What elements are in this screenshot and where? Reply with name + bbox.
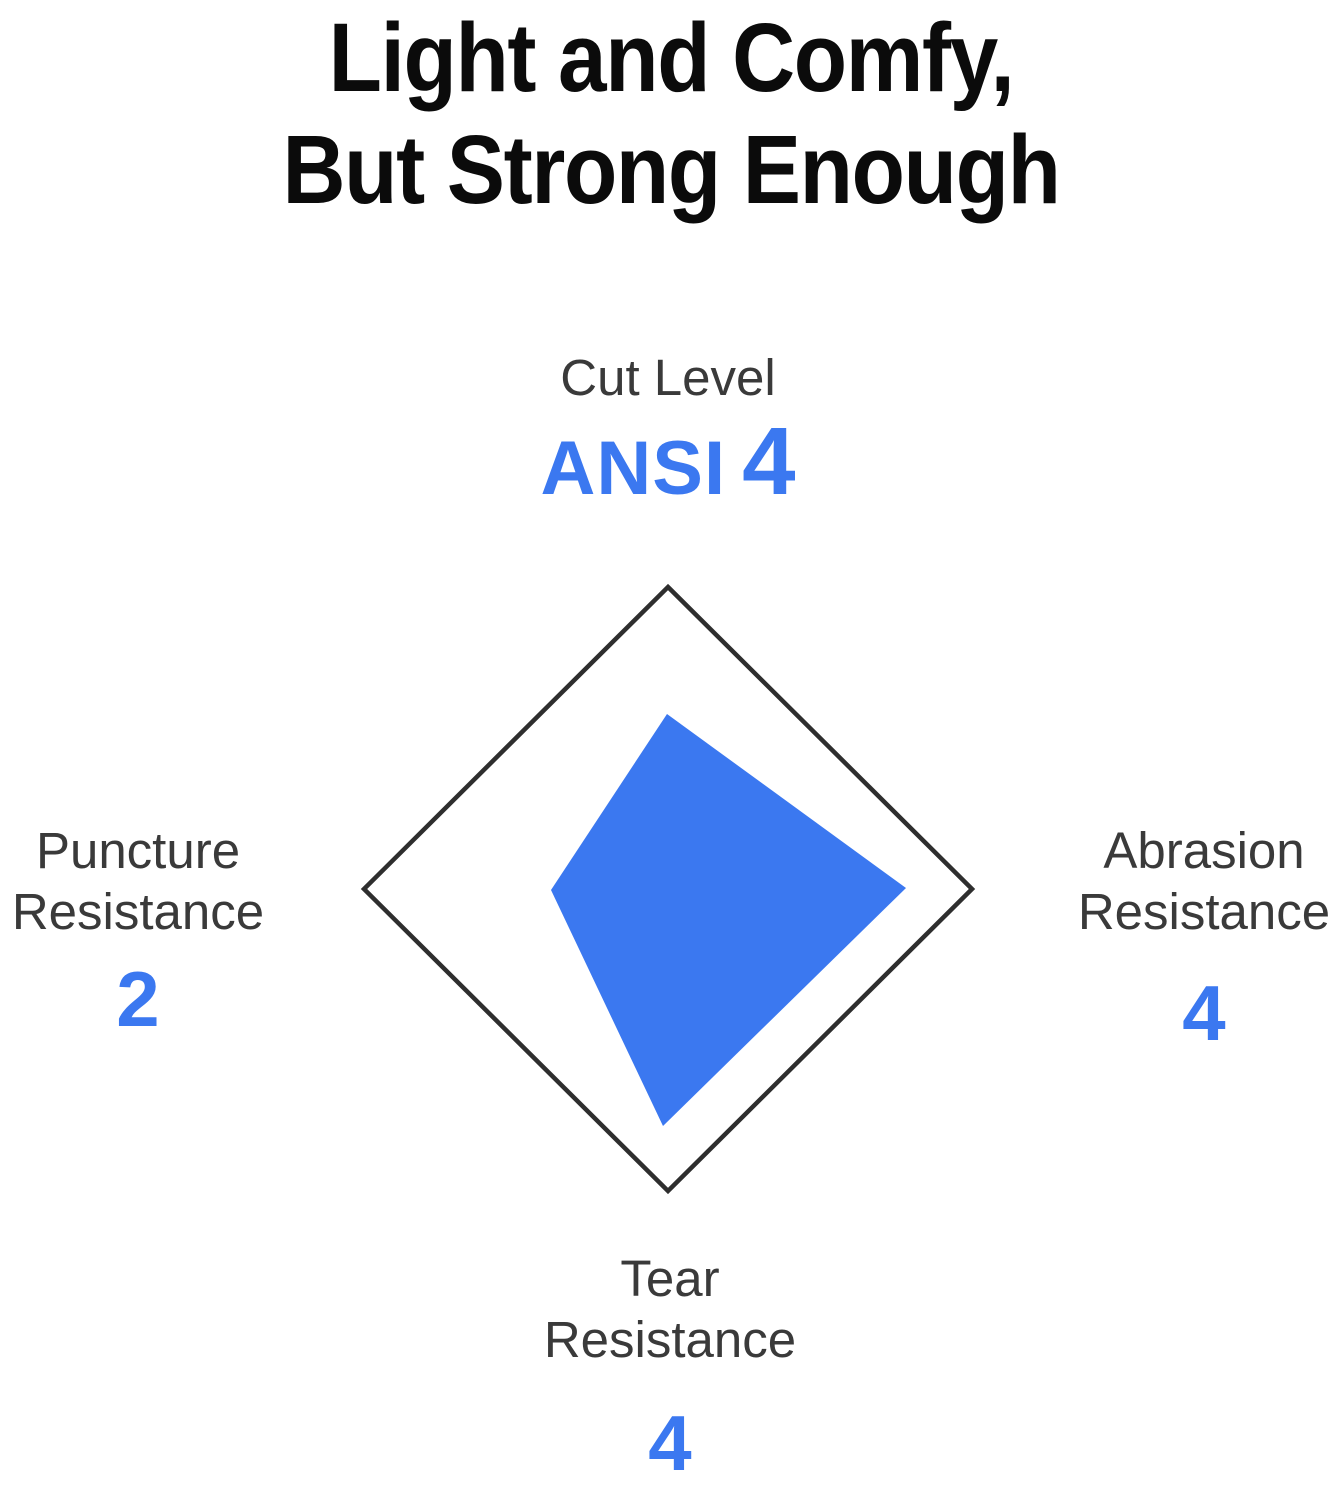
infographic-canvas: Light and Comfy, But Strong Enough Cut L…	[0, 0, 1342, 1500]
axis-label-abrasion-resistance-text: Abrasion Resistance	[1054, 820, 1342, 942]
cut-level-standard: ANSI	[541, 426, 727, 511]
axis-value-puncture-resistance: 2	[0, 956, 284, 1042]
axis-label-cut-level: Cut Level ANSI4	[371, 350, 965, 536]
axis-label-abrasion-resistance: Abrasion Resistance 4	[1054, 820, 1342, 1056]
cut-level-number: 4	[742, 408, 795, 515]
cut-level-rating: ANSI4	[371, 416, 965, 536]
axis-label-tear-resistance: Tear Resistance 4	[420, 1248, 920, 1486]
axis-label-tear-resistance-text: Tear Resistance	[420, 1248, 920, 1370]
radar-series-area	[551, 714, 906, 1126]
axis-value-abrasion-resistance: 4	[1054, 970, 1342, 1056]
axis-label-puncture-resistance-text: Puncture Resistance	[0, 820, 284, 942]
axis-label-puncture-resistance: Puncture Resistance 2	[0, 820, 284, 1042]
axis-value-tear-resistance: 4	[420, 1400, 920, 1486]
axis-label-cut-level-text: Cut Level	[371, 350, 965, 406]
radar-chart: Cut Level ANSI4 Puncture Resistance 2 Ab…	[0, 0, 1342, 1500]
